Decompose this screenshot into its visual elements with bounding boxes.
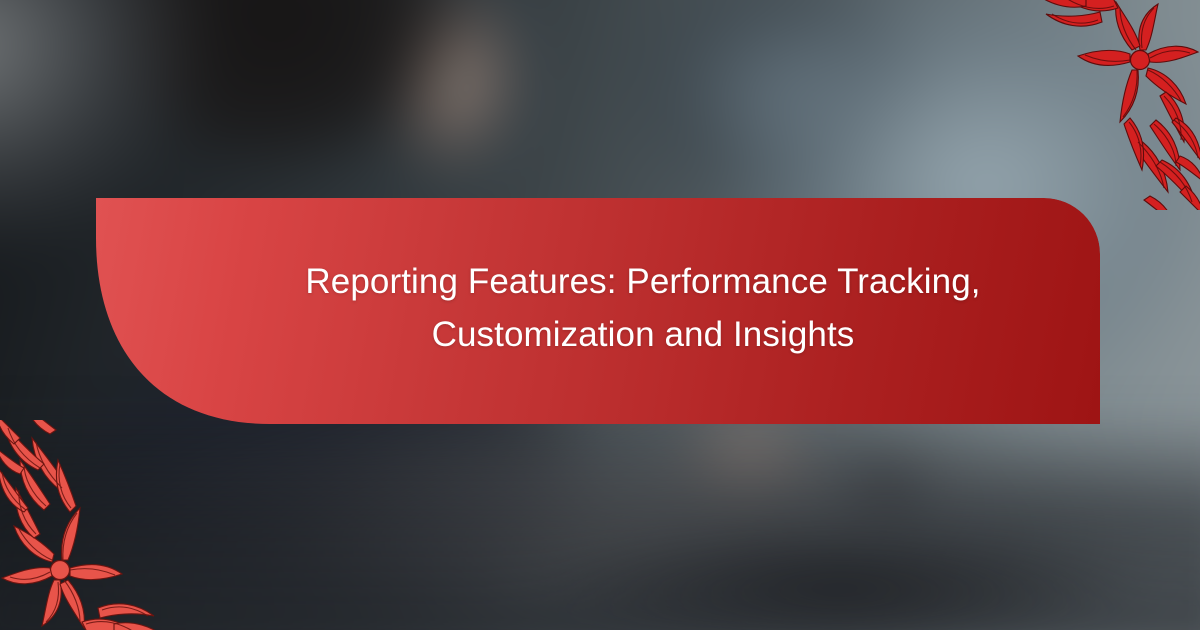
- banner-title-line-1: Reporting Features: Performance Tracking…: [305, 255, 980, 308]
- title-banner-content: Reporting Features: Performance Tracking…: [246, 198, 1040, 424]
- background-photo-foreground: [0, 410, 1200, 630]
- banner-title-line-2: Customization and Insights: [432, 308, 855, 361]
- title-banner: Reporting Features: Performance Tracking…: [96, 198, 1100, 424]
- banner-canvas: Reporting Features: Performance Tracking…: [0, 0, 1200, 630]
